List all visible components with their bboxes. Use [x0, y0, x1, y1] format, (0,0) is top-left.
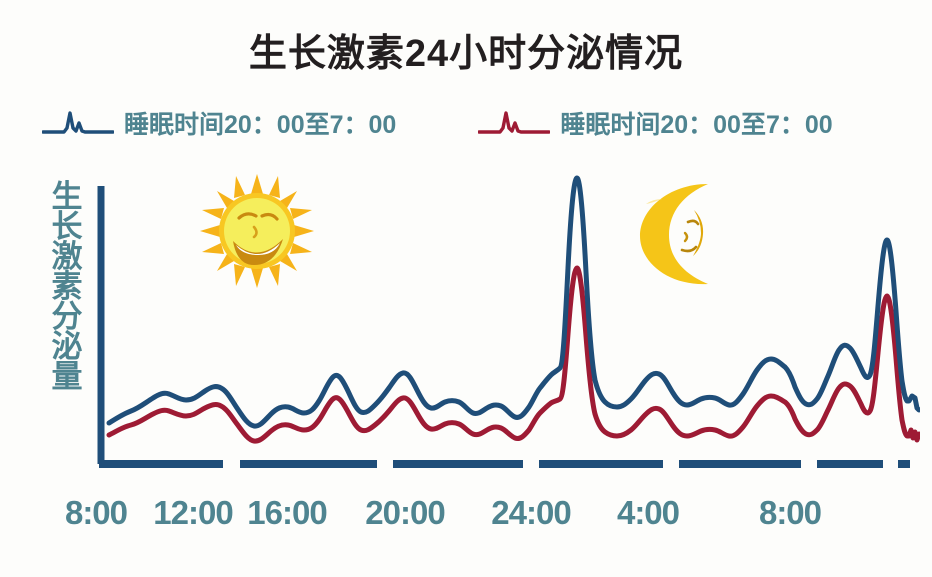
x-tick-6: 8:00: [759, 494, 821, 532]
growth-hormone-chart: 生长激素24小时分泌情况 睡眠时间20：00至7：00 睡眠时间20：00至7：…: [0, 0, 932, 577]
sun-icon: [198, 172, 316, 290]
waveform-line-icon: [478, 106, 550, 140]
x-axis-tick-labels: 8:00 12:00 16:00 20:00 24:00 4:00 8:00: [0, 494, 932, 542]
legend-item-red[interactable]: 睡眠时间20：00至7：00: [478, 105, 832, 141]
x-tick-2: 16:00: [247, 494, 326, 532]
y-axis-label: 生长激素分泌量: [47, 182, 87, 472]
chart-title: 生长激素24小时分泌情况: [0, 22, 932, 77]
legend-label-blue: 睡眠时间20：00至7：00: [124, 105, 396, 141]
x-tick-0: 8:00: [65, 494, 127, 532]
chart-legend: 睡眠时间20：00至7：00 睡眠时间20：00至7：00: [42, 100, 902, 146]
x-tick-3: 20:00: [365, 494, 444, 532]
legend-label-red: 睡眠时间20：00至7：00: [560, 105, 832, 141]
moon-icon: [624, 178, 728, 290]
x-tick-1: 12:00: [153, 494, 232, 532]
waveform-line-icon: [42, 106, 114, 140]
legend-item-blue[interactable]: 睡眠时间20：00至7：00: [42, 105, 396, 141]
x-tick-4: 24:00: [491, 494, 570, 532]
x-tick-5: 4:00: [617, 494, 679, 532]
